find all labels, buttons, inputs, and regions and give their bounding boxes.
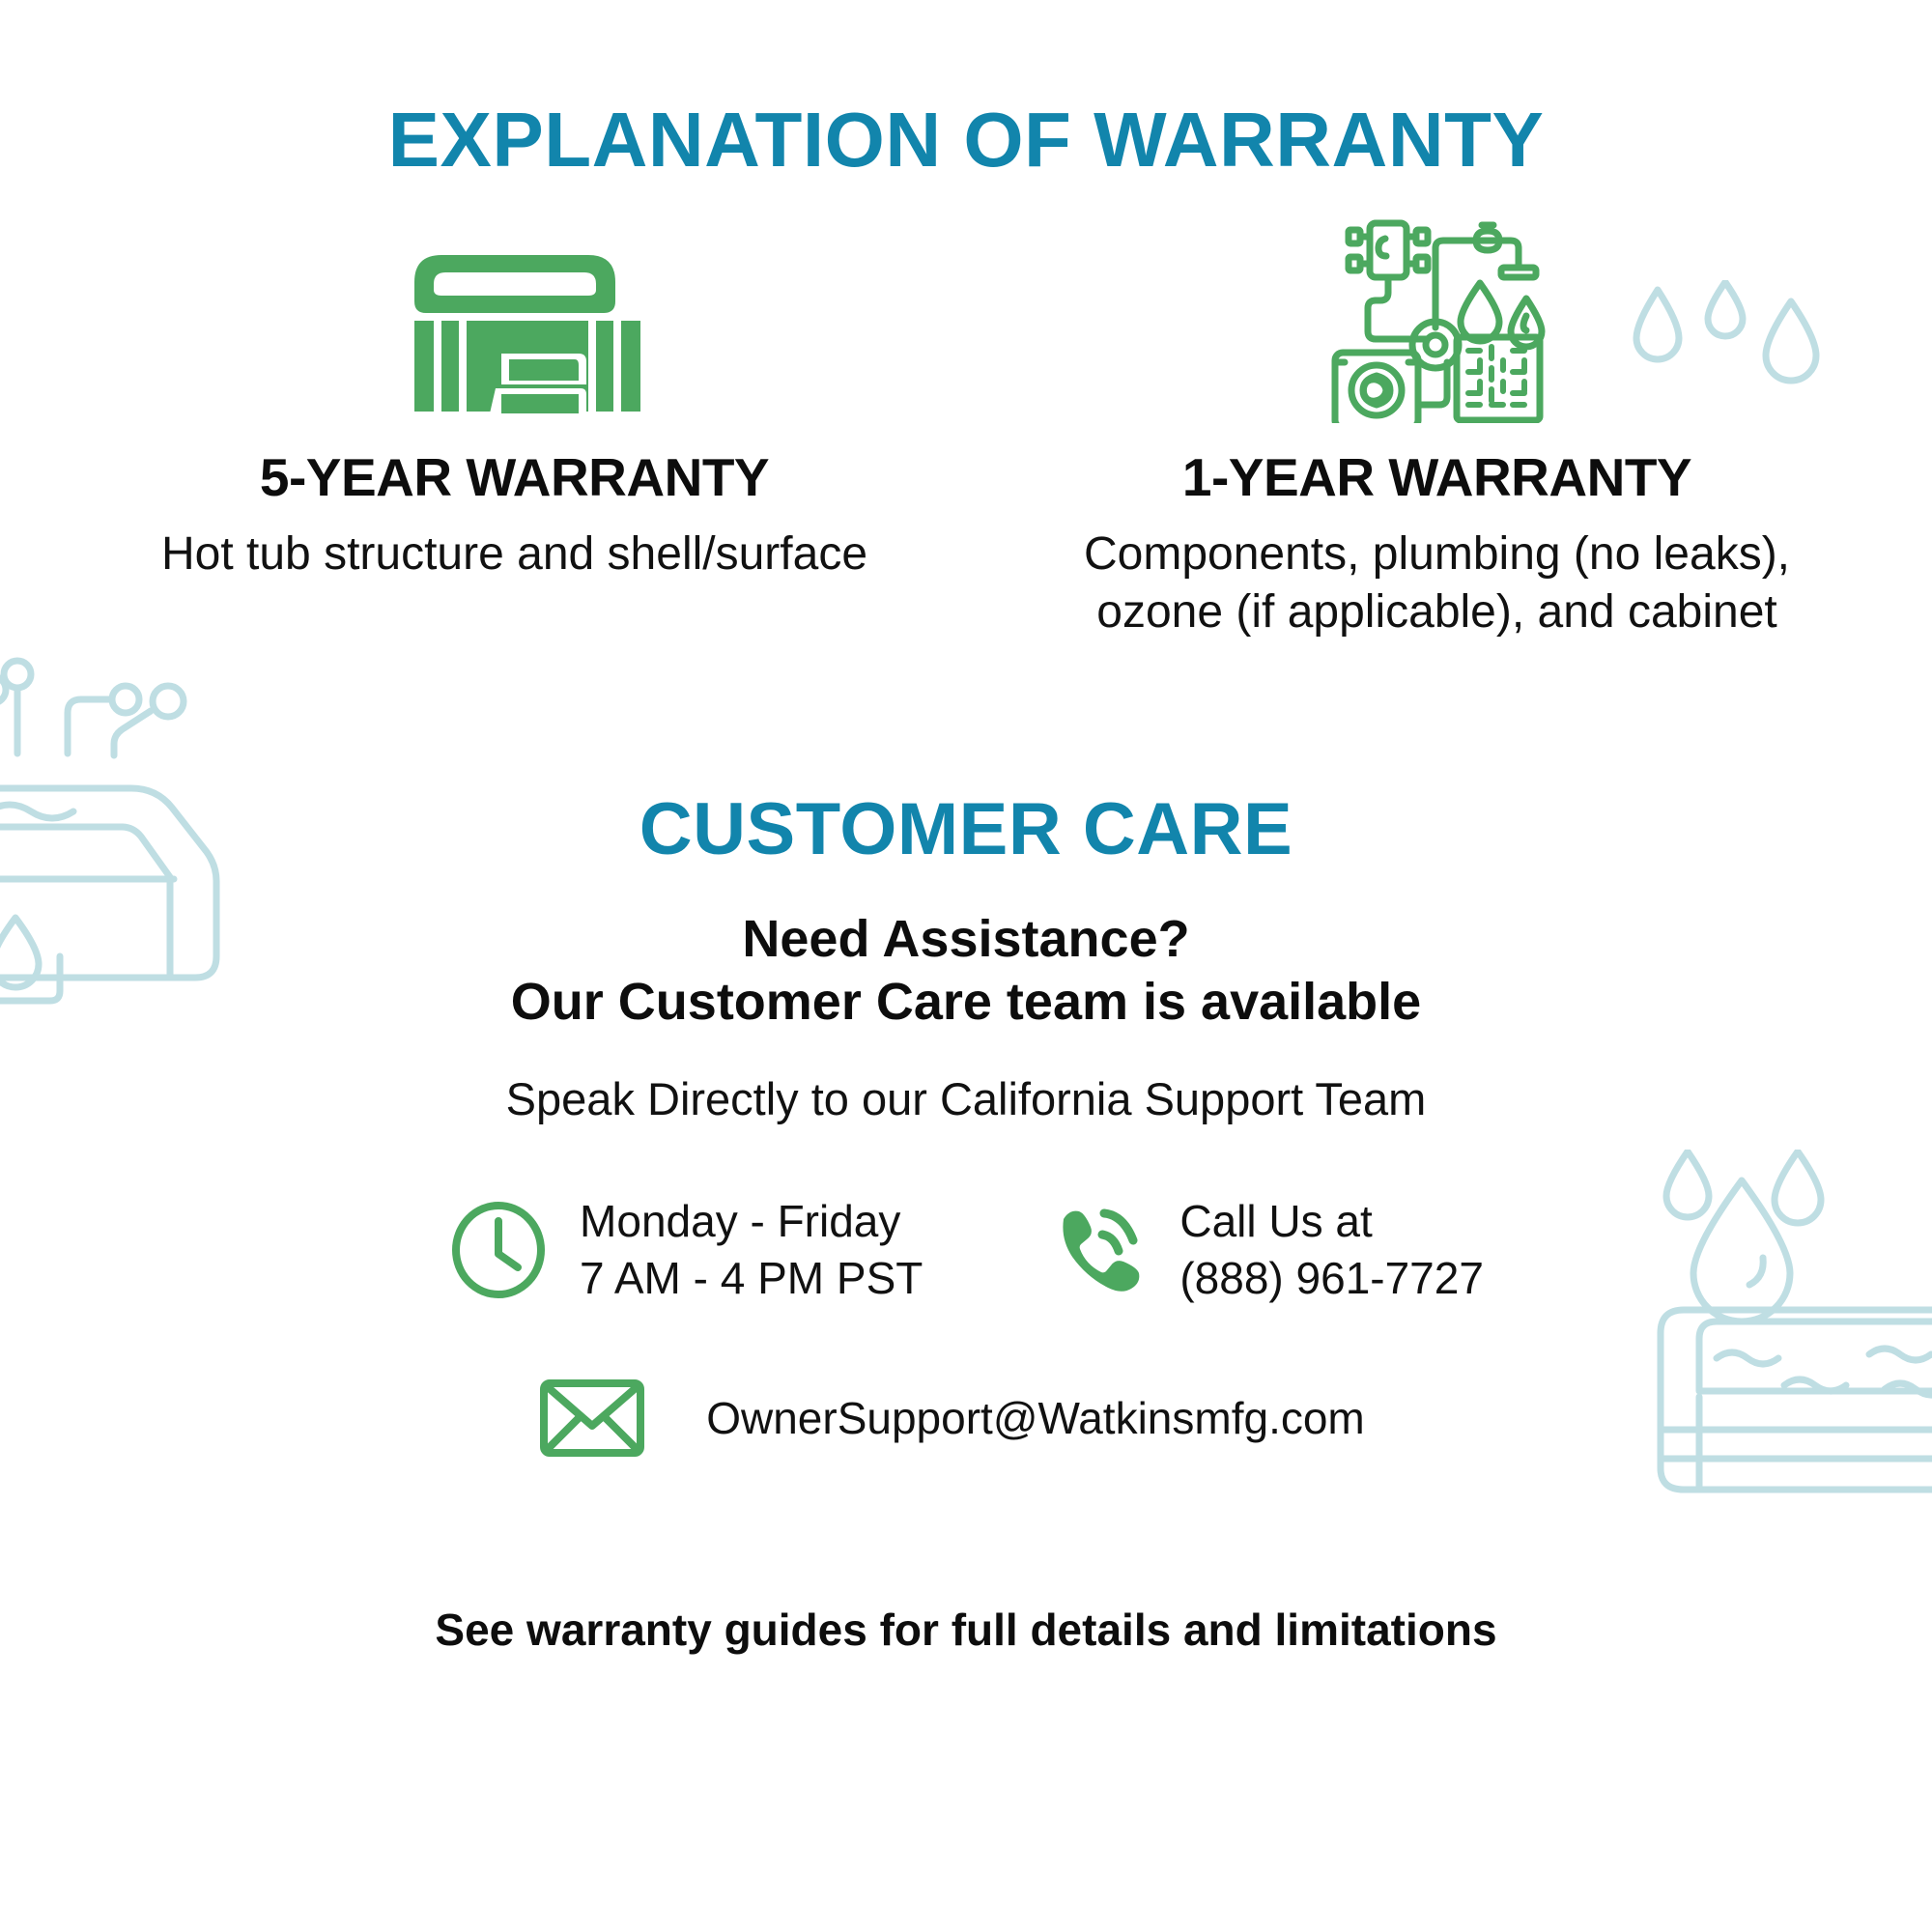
hot-tub-icon	[374, 215, 656, 423]
warranty-column-5-year: 5-YEAR WARRANTY Hot tub structure and sh…	[39, 215, 971, 640]
warranty-description-1-year: Components, plumbing (no leaks), ozone (…	[1032, 526, 1843, 640]
phone-text: Call Us at (888) 961-7727	[1179, 1193, 1484, 1307]
footer-note: See warranty guides for full details and…	[0, 1604, 1932, 1656]
phone-item[interactable]: Call Us at (888) 961-7727	[1048, 1193, 1484, 1307]
phone-number[interactable]: (888) 961-7727	[1179, 1253, 1484, 1303]
contact-row: Monday - Friday 7 AM - 4 PM PST Call Us …	[0, 1193, 1932, 1307]
envelope-icon	[538, 1376, 646, 1461]
plumbing-components-icon	[1321, 215, 1553, 423]
customer-care-title: CUSTOMER CARE	[0, 787, 1932, 871]
email-item[interactable]: OwnerSupport@Watkinsmfg.com	[538, 1376, 1365, 1461]
need-assistance-line: Need Assistance?	[0, 908, 1932, 971]
hours-line-1: Monday - Friday	[580, 1196, 900, 1246]
hours-line-2: 7 AM - 4 PM PST	[580, 1253, 923, 1303]
team-available-line: Our Customer Care team is available	[0, 971, 1932, 1034]
phone-icon	[1048, 1200, 1149, 1300]
phone-label: Call Us at	[1179, 1196, 1372, 1246]
warranty-column-1-year: 1-YEAR WARRANTY Components, plumbing (no…	[971, 215, 1893, 640]
speak-directly-line: Speak Directly to our California Support…	[0, 1072, 1932, 1125]
page-title: EXPLANATION OF WARRANTY	[0, 0, 1932, 179]
warranty-columns: 5-YEAR WARRANTY Hot tub structure and sh…	[0, 215, 1932, 640]
email-row[interactable]: OwnerSupport@Watkinsmfg.com	[0, 1376, 1932, 1461]
email-address[interactable]: OwnerSupport@Watkinsmfg.com	[706, 1392, 1365, 1444]
warranty-heading-5-year: 5-YEAR WARRANTY	[260, 446, 769, 508]
warranty-info-page: EXPLANATION OF WARRANTY	[0, 0, 1932, 1932]
clock-icon	[448, 1200, 549, 1300]
warranty-description-5-year: Hot tub structure and shell/surface	[161, 526, 867, 583]
hours-item: Monday - Friday 7 AM - 4 PM PST	[448, 1193, 923, 1307]
hours-text: Monday - Friday 7 AM - 4 PM PST	[580, 1193, 923, 1307]
customer-care-subheading: Need Assistance? Our Customer Care team …	[0, 908, 1932, 1034]
warranty-heading-1-year: 1-YEAR WARRANTY	[1182, 446, 1691, 508]
